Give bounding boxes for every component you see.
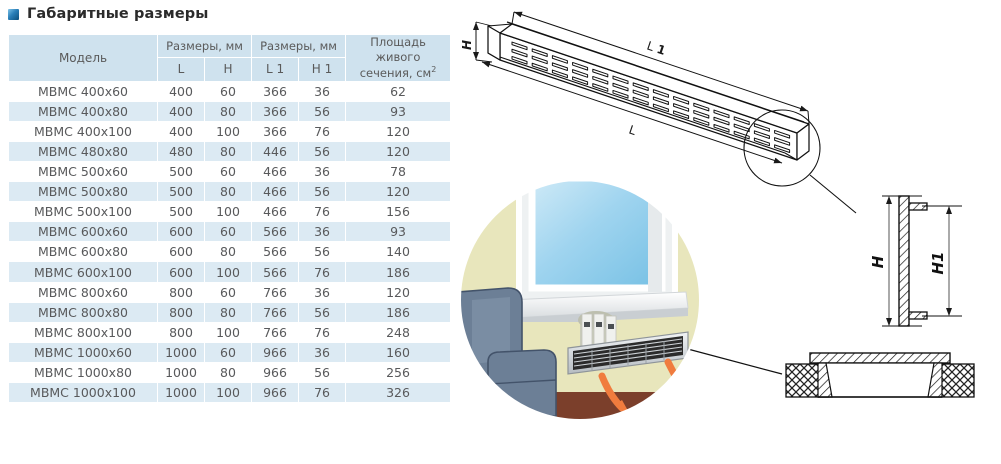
col-header-model: Модель	[9, 35, 157, 81]
cell-h1: 76	[299, 383, 345, 402]
cell-model: МВМС 500x60	[9, 162, 157, 181]
table-row: МВМС 800x608006076636120	[9, 283, 450, 302]
table-header-row-1: Модель Размеры, мм Размеры, мм Площадь ж…	[9, 35, 450, 57]
isometric-grille-drawing	[488, 22, 856, 213]
table-row: МВМС 400x60400603663662	[9, 82, 450, 101]
cell-h: 60	[205, 343, 251, 362]
cell-h: 80	[205, 182, 251, 201]
cell-l1: 966	[252, 383, 298, 402]
table-row: МВМС 500x805008046656120	[9, 182, 450, 201]
cell-h: 80	[205, 102, 251, 121]
cell-area: 160	[346, 343, 450, 362]
cell-model: МВМС 480x80	[9, 142, 157, 161]
cell-h: 60	[205, 162, 251, 181]
page-title: Габаритные размеры	[8, 6, 208, 22]
table-row: МВМС 480x804808044656120	[9, 142, 450, 161]
cell-l: 1000	[158, 383, 204, 402]
cell-area: 93	[346, 222, 450, 241]
cell-model: МВМС 400x60	[9, 82, 157, 101]
table-row: МВМС 1000x100100010096676326	[9, 383, 450, 402]
cell-model: МВМС 800x80	[9, 303, 157, 322]
cell-h: 60	[205, 222, 251, 241]
dimension-label-L: L	[627, 123, 638, 139]
cell-h1: 36	[299, 82, 345, 101]
col-header-l1: L 1	[252, 58, 298, 80]
cell-h1: 76	[299, 122, 345, 141]
cell-area: 120	[346, 142, 450, 161]
cell-area: 156	[346, 202, 450, 221]
cell-l1: 966	[252, 343, 298, 362]
cell-h1: 76	[299, 262, 345, 281]
cell-h1: 76	[299, 323, 345, 342]
col-header-h1: H 1	[299, 58, 345, 80]
cell-model: МВМС 800x60	[9, 283, 157, 302]
cell-area: 256	[346, 363, 450, 382]
cell-l1: 466	[252, 202, 298, 221]
cell-area: 120	[346, 122, 450, 141]
cell-h1: 56	[299, 182, 345, 201]
dimensions-table-container: Модель Размеры, мм Размеры, мм Площадь ж…	[8, 34, 448, 403]
cell-l1: 366	[252, 102, 298, 121]
table-row: МВМС 1000x6010006096636160	[9, 343, 450, 362]
cell-model: МВМС 600x80	[9, 242, 157, 261]
cell-l: 800	[158, 283, 204, 302]
cell-area: 326	[346, 383, 450, 402]
cell-h1: 36	[299, 162, 345, 181]
cell-l: 400	[158, 102, 204, 121]
cell-h: 100	[205, 383, 251, 402]
cell-model: МВМС 600x100	[9, 262, 157, 281]
cell-l1: 446	[252, 142, 298, 161]
cell-model: МВМС 800x100	[9, 323, 157, 342]
vertical-section-drawing	[882, 196, 962, 326]
cell-model: МВМС 1000x60	[9, 343, 157, 362]
cell-model: МВМС 500x100	[9, 202, 157, 221]
col-header-group-1: Размеры, мм	[158, 35, 251, 57]
cell-model: МВМС 500x80	[9, 182, 157, 201]
cell-h: 100	[205, 202, 251, 221]
cell-l: 800	[158, 323, 204, 342]
cell-l1: 566	[252, 222, 298, 241]
cell-h1: 56	[299, 102, 345, 121]
cell-h: 60	[205, 82, 251, 101]
cell-h1: 36	[299, 222, 345, 241]
cell-model: МВМС 600x60	[9, 222, 157, 241]
cell-h: 80	[205, 142, 251, 161]
cell-h: 80	[205, 363, 251, 382]
cell-l: 1000	[158, 363, 204, 382]
cell-h: 100	[205, 262, 251, 281]
cell-l: 600	[158, 242, 204, 261]
col-header-group-2: Размеры, мм	[252, 35, 345, 57]
dimensions-table: Модель Размеры, мм Размеры, мм Площадь ж…	[8, 34, 451, 403]
cell-l: 600	[158, 222, 204, 241]
table-head: Модель Размеры, мм Размеры, мм Площадь ж…	[9, 35, 450, 81]
page-title-text: Габаритные размеры	[27, 6, 208, 22]
cell-h: 100	[205, 323, 251, 342]
cell-area: 93	[346, 102, 450, 121]
cell-model: МВМС 400x80	[9, 102, 157, 121]
cell-area: 120	[346, 182, 450, 201]
cell-l: 500	[158, 162, 204, 181]
table-row: МВМС 500x60500604663678	[9, 162, 450, 181]
table-row: МВМС 600x10060010056676186	[9, 262, 450, 281]
cell-l: 500	[158, 202, 204, 221]
cell-area: 120	[346, 283, 450, 302]
cell-l1: 566	[252, 242, 298, 261]
cell-l1: 366	[252, 82, 298, 101]
table-row: МВМС 800x808008076656186	[9, 303, 450, 322]
cell-l: 1000	[158, 343, 204, 362]
cell-area: 62	[346, 82, 450, 101]
cell-l: 500	[158, 182, 204, 201]
dimension-label-H1-section: H1	[929, 252, 947, 275]
cell-h1: 56	[299, 303, 345, 322]
cell-l: 800	[158, 303, 204, 322]
bullet-square-icon	[8, 9, 19, 20]
col-header-h: H	[205, 58, 251, 80]
cell-l1: 466	[252, 182, 298, 201]
cell-h1: 36	[299, 283, 345, 302]
figures-panel: L 1 L H	[452, 0, 1001, 464]
col-header-area-sup: 2	[431, 65, 436, 74]
cell-h: 80	[205, 242, 251, 261]
col-header-area-line2: сечения, см	[360, 66, 432, 80]
table-row: МВМС 400x10040010036676120	[9, 122, 450, 141]
cell-l1: 966	[252, 363, 298, 382]
cell-l: 600	[158, 262, 204, 281]
cell-h: 100	[205, 122, 251, 141]
cell-h1: 76	[299, 202, 345, 221]
cell-l: 400	[158, 82, 204, 101]
cell-l1: 766	[252, 323, 298, 342]
cell-area: 186	[346, 303, 450, 322]
dimension-label-H-isometric: H	[460, 40, 474, 50]
table-row: МВМС 1000x8010008096656256	[9, 363, 450, 382]
cell-l: 400	[158, 122, 204, 141]
cell-h1: 56	[299, 363, 345, 382]
cell-l: 480	[158, 142, 204, 161]
col-header-area-line1: Площадь живого	[370, 35, 426, 64]
cell-model: МВМС 1000x100	[9, 383, 157, 402]
col-header-l: L	[158, 58, 204, 80]
cell-h1: 56	[299, 142, 345, 161]
table-row: МВМС 800x10080010076676248	[9, 323, 450, 342]
cell-l1: 766	[252, 283, 298, 302]
cell-h1: 56	[299, 242, 345, 261]
plan-section-drawing	[684, 348, 974, 397]
table-row: МВМС 600x806008056656140	[9, 242, 450, 261]
cell-l1: 366	[252, 122, 298, 141]
cell-area: 248	[346, 323, 450, 342]
cell-area: 186	[346, 262, 450, 281]
cell-l1: 766	[252, 303, 298, 322]
table-row: МВМС 600x60600605663693	[9, 222, 450, 241]
dimension-label-L1: L 1	[645, 39, 667, 58]
cell-model: МВМС 1000x80	[9, 363, 157, 382]
table-row: МВМС 400x80400803665693	[9, 102, 450, 121]
cell-area: 78	[346, 162, 450, 181]
cell-l1: 466	[252, 162, 298, 181]
cell-l1: 566	[252, 262, 298, 281]
cell-h: 80	[205, 303, 251, 322]
dimension-label-H-section: H	[869, 255, 887, 268]
table-body: МВМС 400x60400603663662МВМС 400x80400803…	[9, 82, 450, 403]
cell-area: 140	[346, 242, 450, 261]
col-header-area: Площадь живого сечения, см2	[346, 35, 450, 81]
cell-h1: 36	[299, 343, 345, 362]
cell-h: 60	[205, 283, 251, 302]
table-row: МВМС 500x10050010046676156	[9, 202, 450, 221]
cell-model: МВМС 400x100	[9, 122, 157, 141]
